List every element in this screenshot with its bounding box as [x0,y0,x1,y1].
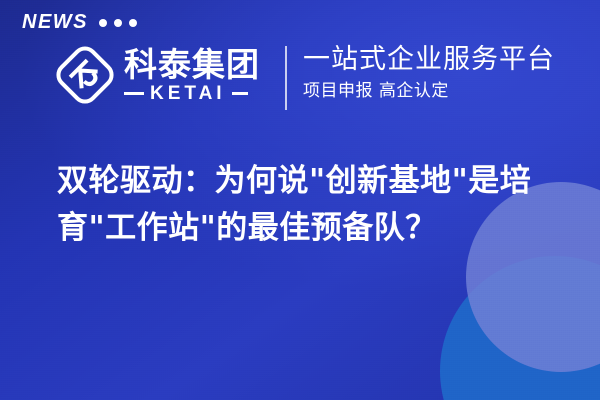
logo-slogan-divider [285,46,287,110]
news-banner: NEWS 科泰集团 KETAI [0,0,600,400]
logo-name-cn: 科泰集团 [124,47,260,83]
wordmark-rule-left [124,92,144,95]
slogan-sub: 项目申报 高企认定 [303,81,555,101]
headline-line: 双轮驱动：为何说"创新基地"是培 [57,158,557,205]
eyebrow-label: NEWS [22,12,88,32]
eyebrow: NEWS [22,12,137,32]
slogan-block: 一站式企业服务平台 项目申报 高企认定 [303,44,555,101]
wordmark-rule-right [232,92,248,95]
logo-name-en: KETAI [150,84,226,103]
eyebrow-dot [129,19,137,27]
eyebrow-dots [99,17,137,27]
ketai-diamond-k-logo-icon [52,42,118,108]
eyebrow-dot [114,19,122,27]
headline: 双轮驱动：为何说"创新基地"是培 育"工作站"的最佳预备队？ [57,158,557,252]
slogan-main: 一站式企业服务平台 [303,44,555,75]
logo-wordmark: 科泰集团 KETAI [124,47,260,104]
logo-lockup: 科泰集团 KETAI [52,42,260,108]
headline-line: 育"工作站"的最佳预备队？ [57,205,557,252]
logo-name-en-row: KETAI [124,84,260,103]
eyebrow-dot [99,19,107,27]
